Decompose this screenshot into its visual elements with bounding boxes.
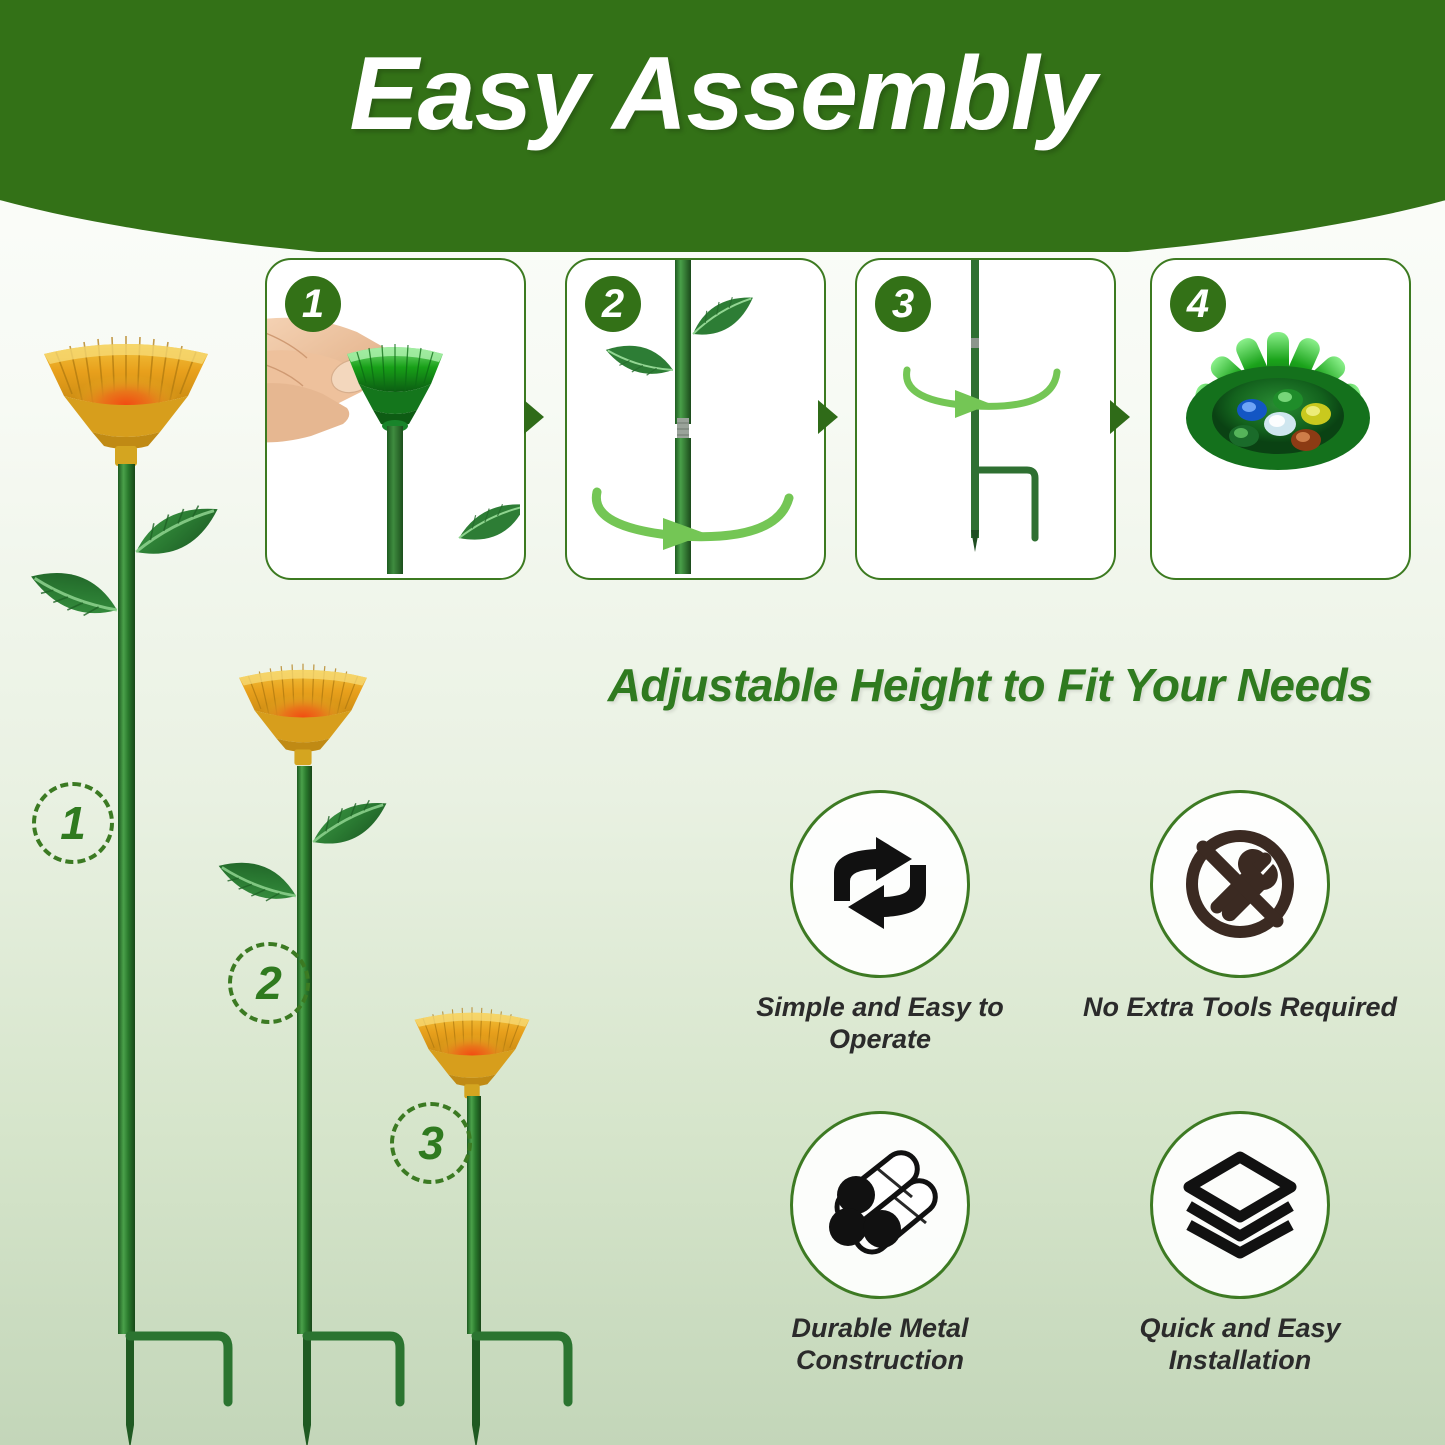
step-badge-4: 4 xyxy=(1170,276,1226,332)
stake-marker-1: 1 xyxy=(32,782,114,864)
step-connector-3 xyxy=(1110,400,1130,434)
no-tools-icon xyxy=(1181,825,1299,943)
feature-grid: Simple and Easy to Operate No Extra Tool… xyxy=(720,790,1400,1410)
feature-circle xyxy=(790,1111,970,1299)
step-panel-3: 3 xyxy=(855,258,1116,580)
feature-circle xyxy=(790,790,970,978)
header-banner: Easy Assembly xyxy=(0,0,1445,252)
infographic-root: Easy Assembly xyxy=(0,0,1445,1445)
flower-stake-medium xyxy=(213,664,400,1445)
feature-circle xyxy=(1150,790,1330,978)
stake-marker-2: 2 xyxy=(228,942,310,1024)
rotate-arrow xyxy=(907,370,1057,418)
metal-pipes-icon xyxy=(820,1149,940,1261)
flower-stake-tall xyxy=(25,336,228,1445)
step-badge-3: 3 xyxy=(875,276,931,332)
feature-circle xyxy=(1150,1111,1330,1299)
feature-label: Simple and Easy to Operate xyxy=(720,992,1040,1056)
feature-label: No Extra Tools Required xyxy=(1083,992,1397,1024)
feature-item-simple-operate: Simple and Easy to Operate xyxy=(720,790,1040,1089)
rotation-arrows-icon xyxy=(820,829,940,939)
feature-label: Quick and Easy Installation xyxy=(1080,1313,1400,1377)
page-title: Easy Assembly xyxy=(0,40,1445,149)
adjustable-height-heading: Adjustable Height to Fit Your Needs xyxy=(545,658,1435,712)
stake-marker-3: 3 xyxy=(390,1102,472,1184)
flower-stakes-group xyxy=(0,290,660,1445)
flower-stake-short xyxy=(415,1007,568,1445)
feature-item-no-tools: No Extra Tools Required xyxy=(1080,790,1400,1089)
stacked-layers-icon xyxy=(1179,1149,1301,1261)
step-connector-2 xyxy=(818,400,838,434)
step-panel-4: 4 xyxy=(1150,258,1411,580)
feature-item-quick-install: Quick and Easy Installation xyxy=(1080,1111,1400,1410)
feature-label: Durable Metal Construction xyxy=(720,1313,1040,1377)
feature-item-durable-metal: Durable Metal Construction xyxy=(720,1111,1040,1410)
